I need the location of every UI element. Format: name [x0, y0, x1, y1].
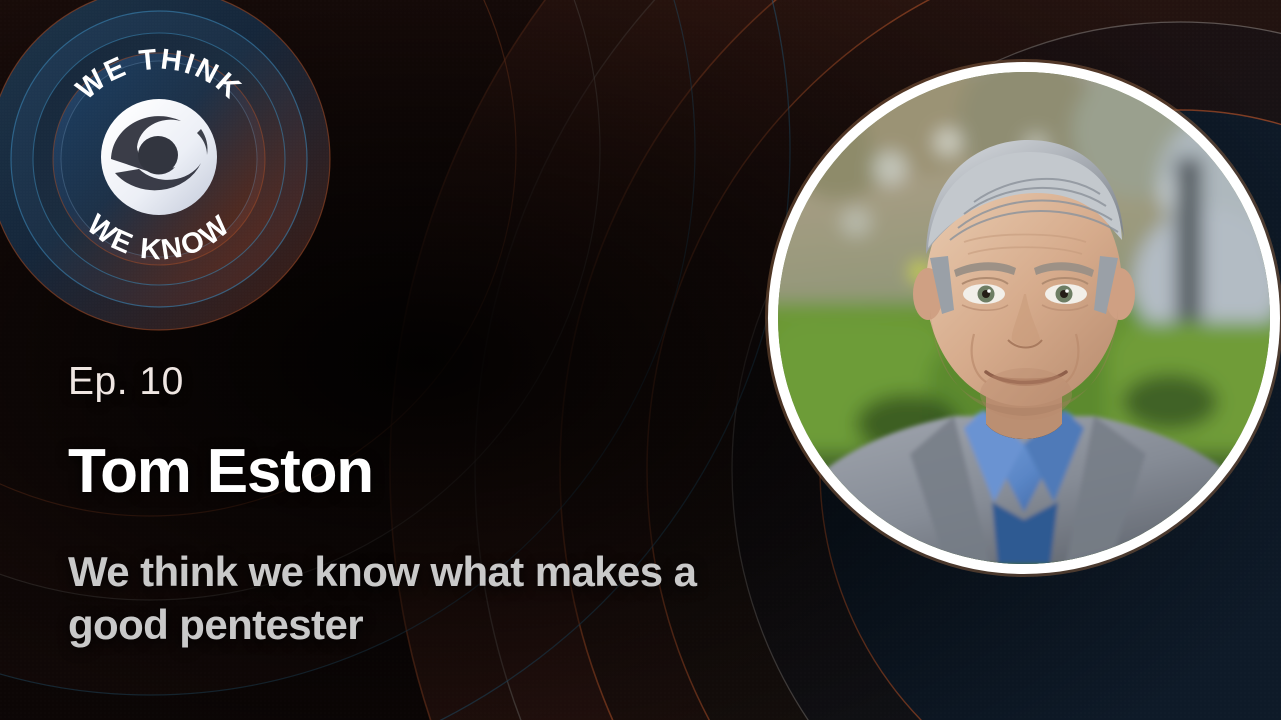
episode-cover-canvas: WE THINK WE KNOW Ep. 10 Tom Eston We thi…	[0, 0, 1281, 720]
guest-name-heading: Tom Eston	[68, 441, 788, 503]
episode-text-block: Ep. 10 Tom Eston We think we know what m…	[68, 362, 788, 652]
guest-portrait	[768, 62, 1280, 574]
episode-title-text: We think we know what makes a good pente…	[68, 545, 778, 652]
brand-logo-badge[interactable]: WE THINK WE KNOW	[0, 0, 332, 332]
episode-number-label: Ep. 10	[68, 362, 788, 401]
eye-swirl-icon	[101, 99, 217, 215]
portrait-photo	[778, 72, 1270, 564]
